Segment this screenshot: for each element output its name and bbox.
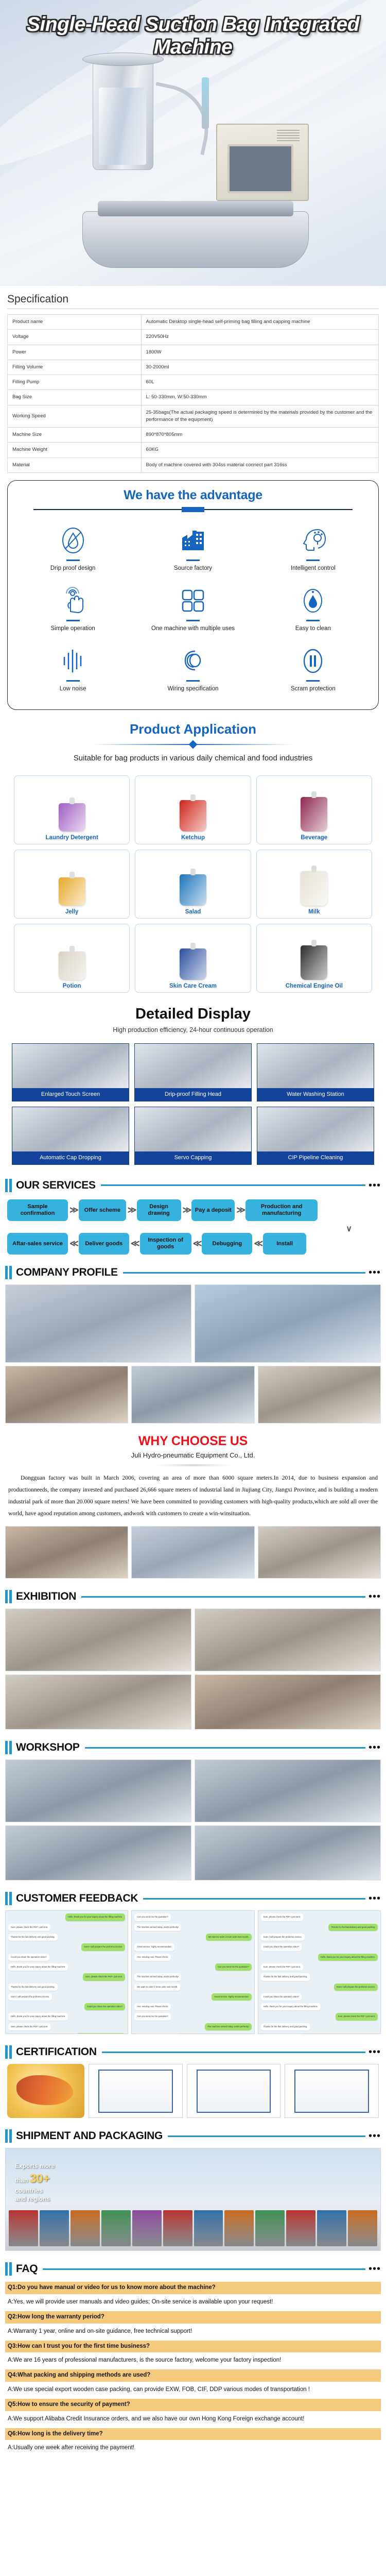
advantage-label: Source factory — [135, 565, 251, 572]
application-card[interactable]: Milk — [256, 850, 372, 919]
application-card[interactable]: Ketchup — [135, 775, 251, 844]
exhibition-photo — [5, 1674, 191, 1730]
product-pouch-image — [138, 928, 247, 980]
company-photo — [5, 1366, 128, 1423]
advantage-item: Wiring specification — [133, 640, 253, 700]
advantage-label: Intelligent control — [255, 565, 371, 572]
spec-key: Voltage — [8, 330, 142, 345]
spec-key: Filling Pump — [8, 375, 142, 390]
chat-message: We want to order 2 more units next month… — [134, 1934, 251, 1941]
advantage-underline — [306, 560, 320, 561]
chat-message: Sure! I will prepare the proforma invoic… — [8, 1943, 125, 1951]
chat-bubble: Could you share the operation video? — [84, 2003, 126, 2010]
product-pouch-image — [17, 854, 126, 906]
chat-bubble: Sure, please check the PDF I just sent. — [8, 1924, 50, 1931]
chat-bubble: Thanks for the fast delivery and good pa… — [8, 1984, 58, 1991]
chat-bubble: Hello, thank you for your inquiry about … — [8, 2013, 68, 2020]
spec-key: Machine Size — [8, 428, 142, 443]
chat-message: Great service, highly recommended. — [134, 1943, 251, 1951]
export-badge: Exports more than 30+ countries and regi… — [15, 2162, 55, 2203]
spec-row: Machine Size890*870*805mm — [8, 428, 379, 443]
spec-value: 220V50Hz — [141, 330, 378, 345]
services-heading: OUR SERVICES — [16, 1179, 96, 1192]
four-squares-icon — [135, 585, 251, 617]
product-pouch-image — [260, 854, 369, 906]
chat-bubble: Yes, sending now. Please check. — [134, 2003, 171, 2010]
export-line-2: than — [15, 2177, 28, 2184]
detail-photo — [135, 1044, 251, 1088]
spec-value: 60L — [141, 375, 378, 390]
shipping-container — [255, 2210, 285, 2246]
feedback-chat-screenshot: Sure, please check the PDF I just sent.T… — [258, 1910, 381, 2034]
sound-wave-icon — [15, 645, 131, 677]
workshop-heading: WORKSHOP — [16, 1741, 80, 1754]
specification-section: Specification Product nameAutomatic Desk… — [0, 286, 386, 473]
certification-row — [0, 2064, 386, 2118]
chat-message: Could you share the operation video? — [261, 1993, 378, 2001]
chat-bubble: The machine arrived today, works perfect… — [205, 2023, 252, 2030]
detail-cell: Servo Capping — [132, 1104, 254, 1167]
container-stack — [6, 2189, 380, 2250]
faq-question[interactable]: Q5:How to ensure the security of payment… — [5, 2399, 381, 2411]
page-title: Single-Head Suction Bag Integrated Machi… — [0, 13, 386, 59]
spec-row: Machine Weight60KG — [8, 443, 379, 457]
company-photo — [131, 1366, 254, 1423]
application-label: Milk — [260, 909, 369, 915]
application-card[interactable]: Potion — [14, 924, 130, 993]
application-subtitle: Suitable for bag products in various dai… — [0, 754, 386, 762]
application-label: Chemical Engine Oil — [260, 983, 369, 989]
chat-message: Thanks for the fast delivery and good pa… — [261, 1973, 378, 1980]
spec-row: Voltage220V50Hz — [8, 330, 379, 345]
product-pouch-image — [17, 780, 126, 832]
advantage-item: One machine with multiple uses — [133, 580, 253, 640]
shipping-container — [348, 2210, 377, 2246]
chat-bubble: Sure, please check the PDF I just sent. — [83, 1973, 125, 1980]
chat-message: Great service, highly recommended. — [134, 1993, 251, 2001]
faq-list: Q1:Do you have manual or video for us to… — [0, 2281, 386, 2467]
advantage-heading: We have the advantage — [13, 488, 373, 503]
advantage-underline — [66, 620, 80, 621]
detail-cell: Automatic Cap Dropping — [9, 1104, 132, 1167]
workshop-photo — [5, 1759, 191, 1822]
application-card[interactable]: Jelly — [14, 850, 130, 919]
faq-answer: A:Yes, we will provide user manuals and … — [5, 2294, 381, 2311]
exhibition-heading-bar: EXHIBITION ••• — [5, 1590, 381, 1603]
workshop-heading-bar: WORKSHOP ••• — [5, 1741, 381, 1754]
exhibition-heading: EXHIBITION — [16, 1590, 76, 1603]
dots-icon: ••• — [369, 2049, 381, 2055]
chat-bubble: We want to order 2 more units next month… — [206, 1934, 252, 1941]
chat-message: Sure, please check the PDF I just sent. — [261, 2013, 378, 2020]
spec-value: Automatic Desktop single-head self-primi… — [141, 315, 378, 330]
pause-icon — [255, 645, 371, 677]
detail-caption: Servo Capping — [135, 1151, 251, 1164]
shipping-container — [9, 2210, 38, 2246]
services-flowchart: Sample confirmation≫Offer scheme≫Design … — [0, 1197, 386, 1255]
flow-arrow-icon: ≫ — [68, 1205, 79, 1215]
application-cell[interactable]: Chemical Engine Oil — [254, 921, 375, 995]
application-card[interactable]: Chemical Engine Oil — [256, 924, 372, 993]
detail-photo — [135, 1107, 251, 1151]
dots-icon: ••• — [369, 1182, 381, 1189]
export-line-3: countries — [15, 2187, 43, 2194]
flow-step[interactable]: Sample confirmation — [7, 1199, 68, 1221]
detailed-display-section: Detailed Display High production efficie… — [0, 1006, 386, 1167]
advantage-label: One machine with multiple uses — [135, 625, 251, 633]
chat-message: We want to order 2 more units next month… — [134, 2033, 251, 2034]
chat-message: Thanks for the fast delivery and good pa… — [261, 1924, 378, 1931]
company-photo-row-1 — [0, 1284, 386, 1363]
advantage-item: Simple operation — [13, 580, 133, 640]
advantage-item: Low noise — [13, 640, 133, 700]
certification-heading: CERTIFICATION — [16, 2046, 97, 2058]
chat-bubble: Sure! I will prepare the proforma invoic… — [261, 1934, 305, 1941]
services-flow-row-1: Sample confirmation≫Offer scheme≫Design … — [7, 1199, 379, 1221]
intelligent-head-icon — [255, 524, 371, 556]
export-line-4: and regions — [15, 2195, 50, 2202]
detail-cell: Drip-proof Filling Head — [132, 1041, 254, 1104]
application-heading: Product Application — [0, 721, 386, 737]
detail-box: Automatic Cap Dropping — [12, 1107, 129, 1165]
shipping-container — [132, 2210, 162, 2246]
feedback-chat-screenshot: Hello, thank you for your inquiry about … — [5, 1910, 128, 2034]
chat-message: Sure, please check the PDF I just sent. — [8, 1924, 125, 1931]
advantage-grid: Drip proof designSource factoryIntellige… — [13, 519, 373, 700]
advantage-underline — [186, 620, 200, 621]
advantage-divider — [33, 507, 353, 512]
spec-value: 30-2000ml — [141, 360, 378, 375]
detail-box: Drip-proof Filling Head — [134, 1043, 252, 1101]
chat-bubble: Great service, highly recommended. — [212, 1993, 251, 2001]
dots-icon: ••• — [369, 2266, 381, 2272]
spec-key: Bag Size — [8, 390, 142, 405]
chat-bubble: Hello, thank you for your inquiry about … — [65, 1913, 125, 1921]
company-photo — [131, 1526, 254, 1579]
application-label: Jelly — [17, 909, 126, 915]
faq-heading: FAQ — [16, 2263, 38, 2275]
chat-bubble: Could you share the operation video? — [261, 1993, 302, 2001]
workshop-photo — [195, 1759, 381, 1822]
flow-step[interactable]: Aftar-sales service — [7, 1233, 68, 1255]
flow-step[interactable]: Production and manufacturing — [245, 1199, 318, 1221]
application-label: Beverage — [260, 835, 369, 841]
faq-question[interactable]: Q2:How long the warranty period? — [5, 2311, 381, 2324]
chat-bubble: Could you share the operation video? — [8, 1954, 49, 1961]
advantage-underline — [186, 560, 200, 561]
hero-machine-illustration — [62, 57, 329, 278]
feedback-heading-bar: CUSTOMER FEEDBACK ••• — [5, 1892, 381, 1905]
application-cell[interactable]: Salad — [132, 847, 253, 921]
spec-key: Power — [8, 345, 142, 360]
spec-value: 60KG — [141, 443, 378, 457]
chat-bubble: Thanks for the fast delivery and good pa… — [76, 2033, 126, 2034]
certification-heading-bar: CERTIFICATION ••• — [5, 2045, 381, 2059]
spec-key: Machine Weight — [8, 443, 142, 457]
shipping-container — [71, 2210, 100, 2246]
advantage-label: Simple operation — [15, 625, 131, 633]
shipping-container — [163, 2210, 192, 2246]
spec-row: Working Speed25-35bags(The actual packag… — [8, 405, 379, 428]
chat-message: Can you send me the quotation? — [134, 1913, 251, 1921]
advantage-item: Drip proof design — [13, 519, 133, 580]
detail-box: Water Washing Station — [257, 1043, 374, 1101]
export-line-1: Exports more — [15, 2162, 55, 2170]
application-card[interactable]: Skin Care Cream — [135, 924, 251, 993]
product-pouch-image — [138, 854, 247, 906]
chat-bubble: Could you share the operation video? — [261, 1943, 302, 1951]
bars-icon — [5, 1892, 12, 1905]
spec-row: Product nameAutomatic Desktop single-hea… — [8, 315, 379, 330]
flow-arrow-icon: ≫ — [126, 1205, 137, 1215]
flow-arrow-icon: ≫ — [235, 1205, 245, 1215]
application-cell[interactable]: Skin Care Cream — [132, 921, 253, 995]
heading-rule — [81, 1596, 365, 1598]
chat-bubble: Thanks for the fast delivery and good pa… — [261, 1973, 310, 1980]
chat-message: Sure, please check the PDF I just sent. — [8, 2023, 125, 2030]
services-heading-bar: OUR SERVICES ••• — [5, 1179, 381, 1192]
company-description: Dongguan factory was built in March 2006… — [0, 1472, 386, 1520]
advantage-underline — [186, 680, 200, 682]
water-drop-icon — [255, 585, 371, 617]
flow-step[interactable]: Design drawing — [137, 1199, 181, 1221]
chat-bubble: Sure! I will prepare the proforma invoic… — [81, 1943, 125, 1951]
application-label: Potion — [17, 983, 126, 989]
chat-bubble: Can you send me the quotation? — [215, 1963, 252, 1971]
chat-bubble: Can you send me the quotation? — [134, 2013, 171, 2020]
spec-key: Product name — [8, 315, 142, 330]
bars-icon — [5, 1266, 12, 1279]
spec-row: Filling Volume30-2000ml — [8, 360, 379, 375]
detail-photo — [257, 1044, 374, 1088]
chat-message: Hello, thank you for your inquiry about … — [8, 2013, 125, 2020]
faq-answer: A:Usually one week after receiving the p… — [5, 2440, 381, 2457]
spec-key: Material — [8, 457, 142, 472]
application-label: Ketchup — [138, 835, 247, 841]
application-label: Laundry Detergent — [17, 835, 126, 841]
detailed-display-subtitle: High production efficiency, 24-hour cont… — [0, 1026, 386, 1033]
product-pouch-image — [138, 780, 247, 832]
workshop-photo-row-2 — [0, 1825, 386, 1880]
chat-message: We want to order 2 more units next month… — [134, 1984, 251, 1991]
why-choose-us-section: WHY CHOOSE US Juli Hydro-pneumatic Equip… — [0, 1434, 386, 1466]
chat-bubble: Yes, sending now. Please check. — [134, 1954, 171, 1961]
company-photo — [195, 1284, 381, 1363]
flow-step[interactable]: Inspection of goods — [140, 1233, 191, 1255]
no-drip-icon — [15, 524, 131, 556]
faq-question[interactable]: Q3:How can I trust you for the first tim… — [5, 2341, 381, 2353]
chat-bubble: Can you send me the quotation? — [134, 1913, 171, 1921]
chat-message: Can you send me the quotation? — [134, 2013, 251, 2020]
dots-icon: ••• — [369, 2133, 381, 2139]
chat-message: Sure, please check the PDF I just sent. — [261, 1963, 378, 1971]
advantage-item: Easy to clean — [253, 580, 373, 640]
detail-caption: Drip-proof Filling Head — [135, 1088, 251, 1101]
certificate — [285, 2064, 379, 2118]
faq-answer: A:Warranty 1 year, online and on-site gu… — [5, 2324, 381, 2341]
feedback-screenshot-row: Hello, thank you for your inquiry about … — [0, 1910, 386, 2034]
application-grid: Laundry DetergentKetchupBeverageJellySal… — [0, 773, 386, 995]
faq-answer: A:We support Alibaba Credit Insurance or… — [5, 2411, 381, 2428]
chat-message: Hello, thank you for your inquiry about … — [8, 1963, 125, 1971]
application-cell[interactable]: Potion — [11, 921, 132, 995]
chat-message: Sure, please check the PDF I just sent. — [261, 1913, 378, 1921]
certificate — [187, 2064, 281, 2118]
feedback-chat-screenshot: Can you send me the quotation?The machin… — [131, 1910, 254, 2034]
application-cell[interactable]: Jelly — [11, 847, 132, 921]
shipping-container — [194, 2210, 223, 2246]
product-pouch-image — [17, 928, 126, 980]
workshop-photo — [5, 1825, 191, 1880]
bars-icon — [5, 2045, 12, 2059]
advantage-card: We have the advantage Drip proof designS… — [7, 480, 379, 710]
shipment-banner: Exports more than 30+ countries and regi… — [5, 2148, 381, 2251]
chat-bubble: Sure, please check the PDF I just sent. — [336, 2013, 378, 2020]
detail-cell: CIP Pipeline Cleaning — [254, 1104, 377, 1167]
chat-message: Thanks for the fast delivery and good pa… — [261, 2023, 378, 2030]
flow-step[interactable]: Offer scheme — [79, 1199, 126, 1221]
advantage-label: Low noise — [15, 685, 131, 693]
faq-question[interactable]: Q4:What packing and shipping methods are… — [5, 2369, 381, 2382]
chat-message: Hello, thank you for your inquiry about … — [261, 2003, 378, 2010]
chat-message: Could you share the operation video? — [8, 2003, 125, 2010]
company-profile-heading-bar: COMPANY PROFILE ••• — [5, 1266, 381, 1279]
services-flow-row-2: Aftar-sales service≪Deliver goods≪Inspec… — [7, 1233, 379, 1255]
application-card[interactable]: Salad — [135, 850, 251, 919]
company-photo — [258, 1526, 381, 1579]
bars-icon — [5, 1590, 12, 1603]
wiring-spiral-icon — [135, 645, 251, 677]
chat-bubble: Sure, please check the PDF I just sent. — [261, 1963, 303, 1971]
chat-message: The machine arrived today, works perfect… — [134, 1973, 251, 1980]
chat-message: Sure, please check the PDF I just sent. — [8, 1973, 125, 1980]
heading-rule — [101, 1184, 365, 1186]
heading-rule — [168, 2136, 365, 2137]
advantage-underline — [306, 620, 320, 621]
company-name: Juli Hydro-pneumatic Equipment Co., Ltd. — [0, 1451, 386, 1459]
chat-message: Can you send me the quotation? — [134, 1963, 251, 1971]
bars-icon — [5, 2262, 12, 2276]
factory-icon — [135, 524, 251, 556]
exhibition-photo — [195, 1674, 381, 1730]
advantage-underline — [306, 680, 320, 682]
flow-step[interactable]: Pay a deposit — [191, 1199, 235, 1221]
company-profile-heading: COMPANY PROFILE — [16, 1266, 118, 1279]
application-cell[interactable]: Beverage — [254, 773, 375, 847]
detail-photo — [12, 1107, 129, 1151]
chat-message: Could you share the operation video? — [8, 1954, 125, 1961]
company-photo-row-2 — [0, 1366, 386, 1423]
why-choose-us-heading: WHY CHOOSE US — [0, 1434, 386, 1449]
detail-box: CIP Pipeline Cleaning — [257, 1107, 374, 1165]
chat-message: Hello, thank you for your inquiry about … — [261, 1954, 378, 1961]
chat-bubble: Sure! I will prepare the proforma invoic… — [8, 1993, 52, 2001]
detail-box: Enlarged Touch Screen — [12, 1043, 129, 1101]
heading-rule — [43, 2268, 365, 2270]
chat-message: Sure! I will prepare the proforma invoic… — [261, 1984, 378, 1991]
chat-bubble: The machine arrived today, works perfect… — [134, 1973, 181, 1980]
spec-row: Filling Pump60L — [8, 375, 379, 390]
advantage-label: Wiring specification — [135, 685, 251, 693]
detail-caption: Enlarged Touch Screen — [12, 1088, 129, 1101]
spec-value: L: 50-330mm, W:50-330mm — [141, 390, 378, 405]
faq-question[interactable]: Q1:Do you have manual or video for us to… — [5, 2282, 381, 2294]
application-cell[interactable]: Laundry Detergent — [11, 773, 132, 847]
advantage-item: Scram protection — [253, 640, 373, 700]
heading-rule — [143, 1898, 365, 1900]
bars-icon — [5, 1741, 12, 1754]
flow-down-arrow-icon: ∨ — [7, 1226, 379, 1233]
flow-arrow-icon: ≪ — [252, 1239, 263, 1249]
advantage-label: Easy to clean — [255, 625, 371, 633]
bars-icon — [5, 1179, 12, 1192]
chat-message: Sure! I will prepare the proforma invoic… — [8, 1993, 125, 2001]
chat-message: Yes, sending now. Please check. — [134, 1954, 251, 1961]
chat-message: Could you share the operation video? — [261, 1943, 378, 1951]
advantage-underline — [66, 560, 80, 561]
shipment-heading: SHIPMENT AND PACKAGING — [16, 2130, 163, 2142]
exhibition-photo-row-1 — [0, 1608, 386, 1671]
application-cell[interactable]: Milk — [254, 847, 375, 921]
chat-message: Thanks for the fast delivery and good pa… — [8, 1934, 125, 1941]
application-card[interactable]: Laundry Detergent — [14, 775, 130, 844]
chat-message: Sure! I will prepare the proforma invoic… — [261, 2033, 378, 2034]
faq-question[interactable]: Q6:How long is the delivery time? — [5, 2428, 381, 2441]
hero-banner: Single-Head Suction Bag Integrated Machi… — [0, 0, 386, 286]
workshop-photo-row-1 — [0, 1759, 386, 1822]
company-photo-row-3 — [0, 1526, 386, 1579]
chat-message: Thanks for the fast delivery and good pa… — [8, 2033, 125, 2034]
chat-bubble: Hello, thank you for your inquiry about … — [8, 1963, 68, 1971]
chat-bubble: We want to order 2 more units next month… — [134, 1984, 180, 1991]
product-pouch-image — [260, 780, 369, 832]
detail-caption: Water Washing Station — [257, 1088, 374, 1101]
specification-divider — [7, 309, 379, 309]
chat-message: The machine arrived today, works perfect… — [134, 2023, 251, 2030]
shipping-container — [317, 2210, 346, 2246]
faq-answer: A:We are 16 years of professional manufa… — [5, 2352, 381, 2369]
chat-bubble: Sure! I will prepare the proforma invoic… — [261, 2033, 305, 2034]
flow-step[interactable]: Debugging — [202, 1233, 252, 1255]
spec-value: 25-35bags(The actual packaging speed is … — [141, 405, 378, 428]
chat-message: Sure! I will prepare the proforma invoic… — [261, 1934, 378, 1941]
chat-bubble: Sure! I will prepare the proforma invoic… — [334, 1984, 378, 1991]
company-photo — [5, 1526, 128, 1579]
advantage-label: Scram protection — [255, 685, 371, 693]
product-pouch-image — [260, 928, 369, 980]
dragon-emblem-icon — [7, 2064, 84, 2118]
chat-message: The machine arrived today, works perfect… — [134, 1924, 251, 1931]
chat-bubble: Thanks for the fast delivery and good pa… — [8, 1934, 58, 1941]
detail-caption: CIP Pipeline Cleaning — [257, 1151, 374, 1164]
company-photo — [5, 1284, 191, 1363]
flow-step[interactable]: Install — [263, 1233, 306, 1255]
detail-box: Servo Capping — [134, 1107, 252, 1165]
company-photo — [258, 1366, 381, 1423]
application-cell[interactable]: Ketchup — [132, 773, 253, 847]
application-label: Salad — [138, 909, 247, 915]
chat-message: Thanks for the fast delivery and good pa… — [8, 1984, 125, 1991]
application-card[interactable]: Beverage — [256, 775, 372, 844]
chat-bubble: Thanks for the fast delivery and good pa… — [328, 1924, 378, 1931]
flow-arrow-icon: ≫ — [181, 1205, 192, 1215]
faq-heading-bar: FAQ ••• — [5, 2262, 381, 2276]
flow-step[interactable]: Deliver goods — [79, 1233, 129, 1255]
application-divider — [0, 740, 386, 749]
detailed-display-grid: Enlarged Touch ScreenDrip-proof Filling … — [0, 1041, 386, 1167]
spec-value: 1800W — [141, 345, 378, 360]
shipping-container — [40, 2210, 69, 2246]
